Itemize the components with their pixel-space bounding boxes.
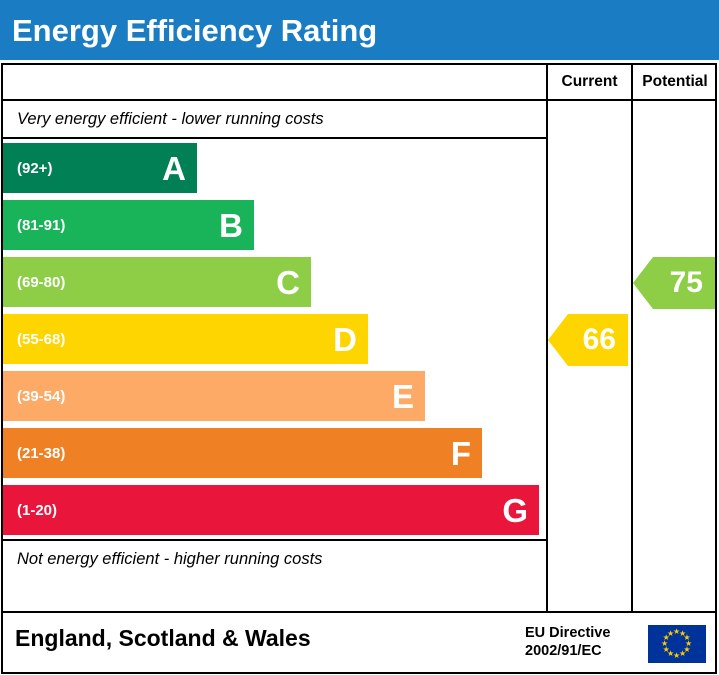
current-rating-marker: 66 xyxy=(568,314,628,366)
column-header-potential: Potential xyxy=(633,65,717,99)
band-range-b: (81-91) xyxy=(17,217,65,234)
band-row-f: (21-38) F xyxy=(3,428,482,478)
footer-directive-line1: EU Directive xyxy=(525,624,610,642)
epc-chart: Energy Efficiency Rating Current Potenti… xyxy=(0,0,719,675)
band-range-g: (1-20) xyxy=(17,502,57,519)
caption-bottom: Not energy efficient - higher running co… xyxy=(3,539,546,577)
potential-marker-tip xyxy=(633,257,653,309)
footer-region: England, Scotland & Wales xyxy=(15,625,311,652)
footer-directive: EU Directive 2002/91/EC xyxy=(525,624,610,660)
band-letter-a: A xyxy=(162,152,186,185)
rating-bars: (92+) A (81-91) B (69-80) C (55-68) D (3… xyxy=(3,139,546,539)
caption-top: Very energy efficient - lower running co… xyxy=(3,101,546,139)
band-range-e: (39-54) xyxy=(17,388,65,405)
band-letter-c: C xyxy=(276,266,300,299)
band-row-g: (1-20) G xyxy=(3,485,539,535)
band-letter-d: D xyxy=(333,323,357,356)
current-rating-value: 66 xyxy=(583,323,616,357)
title-bar: Energy Efficiency Rating xyxy=(0,0,719,60)
band-range-f: (21-38) xyxy=(17,445,65,462)
band-row-a: (92+) A xyxy=(3,143,197,193)
current-marker-tip xyxy=(548,314,568,366)
band-row-d: (55-68) D xyxy=(3,314,368,364)
column-header-current: Current xyxy=(548,65,631,99)
band-range-a: (92+) xyxy=(17,160,52,177)
band-row-b: (81-91) B xyxy=(3,200,254,250)
rating-table: Current Potential Very energy efficient … xyxy=(1,63,717,613)
band-row-e: (39-54) E xyxy=(3,371,425,421)
band-letter-g: G xyxy=(502,494,528,527)
band-row-c: (69-80) C xyxy=(3,257,311,307)
band-range-c: (69-80) xyxy=(17,274,65,291)
eu-star: ★ xyxy=(667,630,674,638)
band-letter-f: F xyxy=(451,437,471,470)
band-range-d: (55-68) xyxy=(17,331,65,348)
band-letter-b: B xyxy=(219,209,243,242)
footer-directive-line2: 2002/91/EC xyxy=(525,642,610,660)
page-title: Energy Efficiency Rating xyxy=(0,15,377,46)
potential-rating-marker: 75 xyxy=(653,257,715,309)
potential-rating-value: 75 xyxy=(670,266,703,300)
footer: England, Scotland & Wales EU Directive 2… xyxy=(1,613,717,674)
band-letter-e: E xyxy=(392,380,414,413)
column-divider-potential xyxy=(631,65,633,611)
eu-flag-icon: ★★★★★★★★★★★★ xyxy=(648,625,706,663)
